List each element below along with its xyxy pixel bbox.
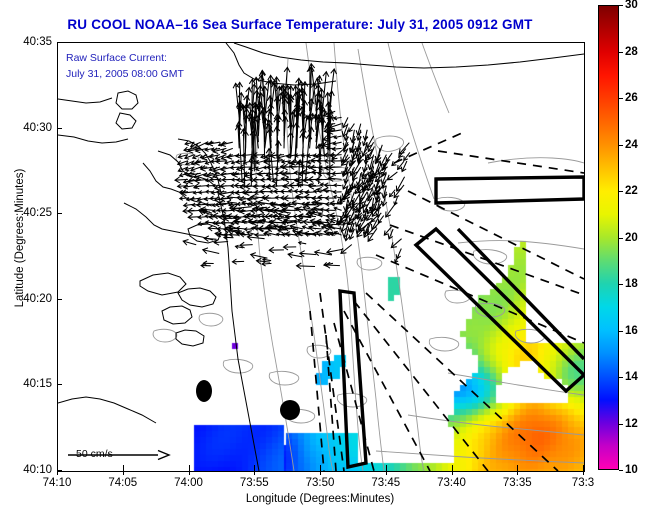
x-axis-tick-label: 73:35 bbox=[503, 477, 532, 489]
colorbar: 3028262422201816141210 bbox=[598, 5, 619, 470]
colorbar-tick bbox=[619, 238, 623, 239]
x-axis-tick bbox=[320, 470, 321, 475]
station-marker bbox=[196, 380, 212, 402]
y-axis-tick-label: 40:25 bbox=[5, 207, 52, 219]
x-axis-tick bbox=[386, 470, 387, 475]
x-axis-tick-label: 74:10 bbox=[43, 477, 72, 489]
colorbar-tick bbox=[619, 145, 623, 146]
annotation-line-2: July 31, 2005 08:00 GMT bbox=[66, 68, 184, 80]
x-axis-tick-label: 73:45 bbox=[371, 477, 400, 489]
colorbar-tick-label: 12 bbox=[625, 418, 638, 430]
x-axis-tick bbox=[189, 470, 190, 475]
x-axis-tick bbox=[517, 470, 518, 475]
colorbar-tick bbox=[619, 98, 623, 99]
colorbar-tick-label: 18 bbox=[625, 278, 638, 290]
y-axis-tick-label: 40:35 bbox=[5, 36, 52, 48]
y-axis-tick bbox=[57, 42, 62, 43]
x-axis-tick-inner bbox=[123, 465, 124, 470]
map-plot-area[interactable]: Raw Surface Current: July 31, 2005 08:00… bbox=[57, 42, 585, 472]
y-axis-tick bbox=[57, 470, 62, 471]
x-axis-tick-label: 73:50 bbox=[306, 477, 335, 489]
colorbar-tick bbox=[619, 52, 623, 53]
x-axis-tick bbox=[123, 470, 124, 475]
x-axis-tick bbox=[254, 470, 255, 475]
colorbar-tick-label: 20 bbox=[625, 232, 638, 244]
colorbar-tick-label: 10 bbox=[625, 464, 638, 476]
colorbar-tick-label: 16 bbox=[625, 325, 638, 337]
y-axis-title: Latitude (Degrees:Minutes) bbox=[14, 138, 26, 338]
figure-title: RU COOL NOAA–16 Sea Surface Temperature:… bbox=[0, 17, 600, 32]
colorbar-tick-label: 28 bbox=[625, 46, 638, 58]
surface-current-vectors bbox=[175, 64, 410, 269]
colorbar-tick-label: 26 bbox=[625, 92, 638, 104]
sst-map-figure: RU COOL NOAA–16 Sea Surface Temperature:… bbox=[0, 0, 651, 518]
colorbar-tick bbox=[619, 191, 623, 192]
x-axis-title: Longitude (Degrees:Minutes) bbox=[57, 493, 583, 505]
colorbar-tick bbox=[619, 424, 623, 425]
current-scale-bar: 50 cm/s bbox=[66, 448, 113, 461]
colorbar-tick bbox=[619, 284, 623, 285]
y-axis-tick-label: 40:20 bbox=[5, 293, 52, 305]
x-axis-tick-label: 73:40 bbox=[437, 477, 466, 489]
colorbar-tick bbox=[619, 377, 623, 378]
x-axis-tick-label: 73:55 bbox=[240, 477, 269, 489]
x-axis-tick-label: 74:00 bbox=[174, 477, 203, 489]
x-axis-tick-inner bbox=[452, 465, 453, 470]
station-marker bbox=[280, 400, 300, 420]
x-axis-tick-inner bbox=[320, 465, 321, 470]
colorbar-tick-label: 24 bbox=[625, 139, 638, 151]
y-axis-tick-label: 40:10 bbox=[5, 464, 52, 476]
y-axis-tick bbox=[57, 384, 62, 385]
colorbar-tick-label: 22 bbox=[625, 185, 638, 197]
x-axis-tick-inner bbox=[189, 465, 190, 470]
x-axis-tick-inner bbox=[517, 465, 518, 470]
scale-bar-arrow-icon bbox=[66, 448, 176, 462]
colorbar-tick-label: 30 bbox=[625, 0, 638, 11]
x-axis-tick bbox=[583, 470, 584, 475]
annotation-line-1: Raw Surface Current: bbox=[66, 52, 167, 64]
colorbar-tick-label: 14 bbox=[625, 371, 638, 383]
map-vector-overlay bbox=[58, 43, 584, 471]
x-axis-tick-label: 73:3 bbox=[572, 477, 594, 489]
y-axis-tick bbox=[57, 299, 62, 300]
y-axis-tick-label: 40:15 bbox=[5, 378, 52, 390]
colorbar-tick bbox=[619, 470, 623, 471]
colorbar-tick bbox=[619, 5, 623, 6]
bathymetry-contours bbox=[153, 43, 584, 471]
y-axis-tick bbox=[57, 213, 62, 214]
colorbar-gradient bbox=[598, 5, 619, 470]
colorbar-tick bbox=[619, 331, 623, 332]
y-axis-tick-label: 40:30 bbox=[5, 122, 52, 134]
y-axis-tick bbox=[57, 128, 62, 129]
radial-dashed-transects bbox=[310, 133, 584, 471]
x-axis-tick-inner bbox=[583, 465, 584, 470]
x-axis-tick-inner bbox=[386, 465, 387, 470]
x-axis-tick-label: 74:05 bbox=[108, 477, 137, 489]
x-axis-tick bbox=[452, 470, 453, 475]
x-axis-tick-inner bbox=[254, 465, 255, 470]
